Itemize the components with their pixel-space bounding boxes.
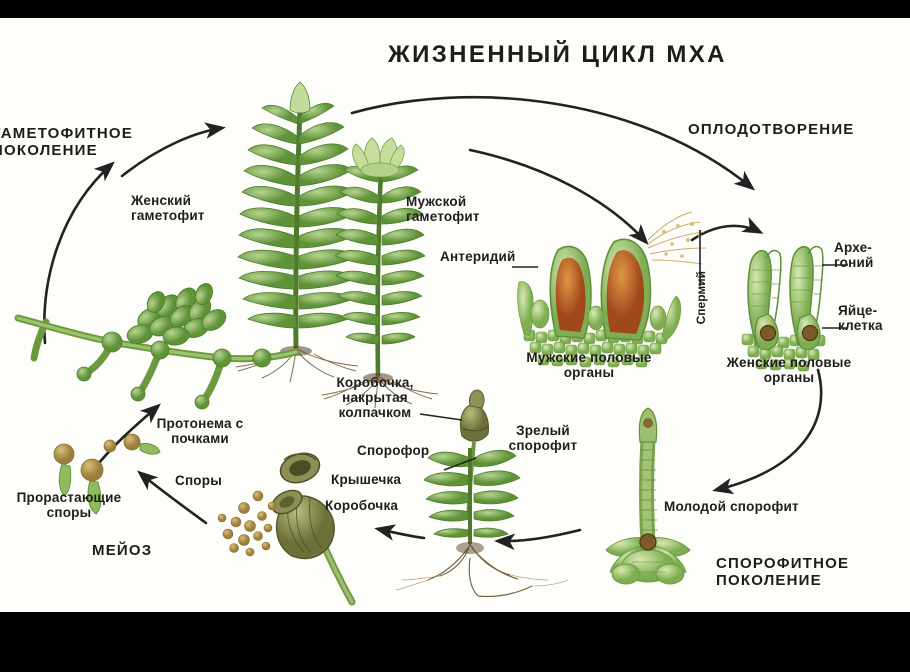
arrow-young-to-mature (498, 530, 580, 541)
label-male-sex-organs: Мужские половые органы (504, 350, 674, 380)
label-egg-cell: Яйце- клетка (838, 303, 883, 333)
female-sex-organs-illustration (742, 247, 825, 371)
label-sporophyte-generation: СПОРОФИТНОЕ ПОКОЛЕНИЕ (716, 556, 849, 590)
label-mature-sporophyte: Зрелый спорофит (497, 423, 589, 453)
label-female-gametophyte: Женский гаметофит (131, 193, 205, 223)
label-capsule: Коробочка (325, 498, 398, 513)
arrow-gametophyte-to-female-organs (352, 97, 752, 188)
label-archegonium: Архе- гоний (834, 240, 873, 270)
capsule-with-calyptra (460, 390, 488, 441)
young-sporophyte-illustration (606, 408, 690, 584)
label-female-sex-organs: Женские половые органы (708, 355, 870, 385)
arrow-to-female-gametophyte (122, 128, 222, 176)
arrow-male-to-antheridia (470, 150, 646, 242)
label-germinating-spores: Прорастающие споры (4, 490, 134, 520)
antheridium-1 (550, 247, 591, 338)
label-fertilization: ОПЛОДОТВОРЕНИЕ (688, 122, 855, 139)
label-protonema-with-buds: Протонема с почками (142, 416, 258, 446)
protonema-bud (125, 281, 230, 347)
label-sporophore: Спорофор (357, 443, 429, 458)
arrow-fertilization (692, 226, 760, 240)
label-meiosis: МЕЙОЗ (92, 543, 152, 560)
diagram-artwork (0, 18, 910, 612)
label-gametophyte-generation: ГАМЕТОФИТНОЕ ПОКОЛЕНИЕ (0, 126, 133, 160)
label-operculum: Крышечка (331, 472, 401, 487)
label-spores: Споры (175, 473, 222, 488)
archegonium-2 (790, 247, 823, 350)
operculum (277, 449, 324, 488)
label-capsule-with-calyptra: Коробочка, накрытая колпачком (320, 375, 430, 420)
male-sex-organs-illustration (518, 212, 706, 367)
arrow-to-young-sporophyte (716, 370, 821, 490)
label-male-gametophyte: Мужской гаметофит (406, 194, 480, 224)
label-antheridium: Антеридий (440, 249, 516, 264)
diagram-title: ЖИЗНЕННЫЙ ЦИКЛ МХА (388, 42, 727, 69)
spores-cluster (218, 491, 276, 556)
arrow-mature-to-capsule (378, 529, 424, 538)
archegonium-1 (748, 251, 781, 350)
mature-sporophyte-illustration (396, 390, 568, 597)
label-young-sporophyte: Молодой спорофит (664, 499, 799, 514)
label-sperm: Спермий (694, 271, 708, 324)
egg-cell-2 (803, 326, 818, 341)
arrow-protonema-to-gametophyte (44, 164, 112, 343)
egg-cell-1 (761, 326, 776, 341)
diagram-canvas: ГАМЕТОФИТНОЕ ПОКОЛЕНИЕ ОПЛОДОТВОРЕНИЕ СП… (0, 18, 910, 612)
diagram-frame: ГАМЕТОФИТНОЕ ПОКОЛЕНИЕ ОПЛОДОТВОРЕНИЕ СП… (0, 0, 910, 672)
antheridium-2 (601, 239, 650, 340)
